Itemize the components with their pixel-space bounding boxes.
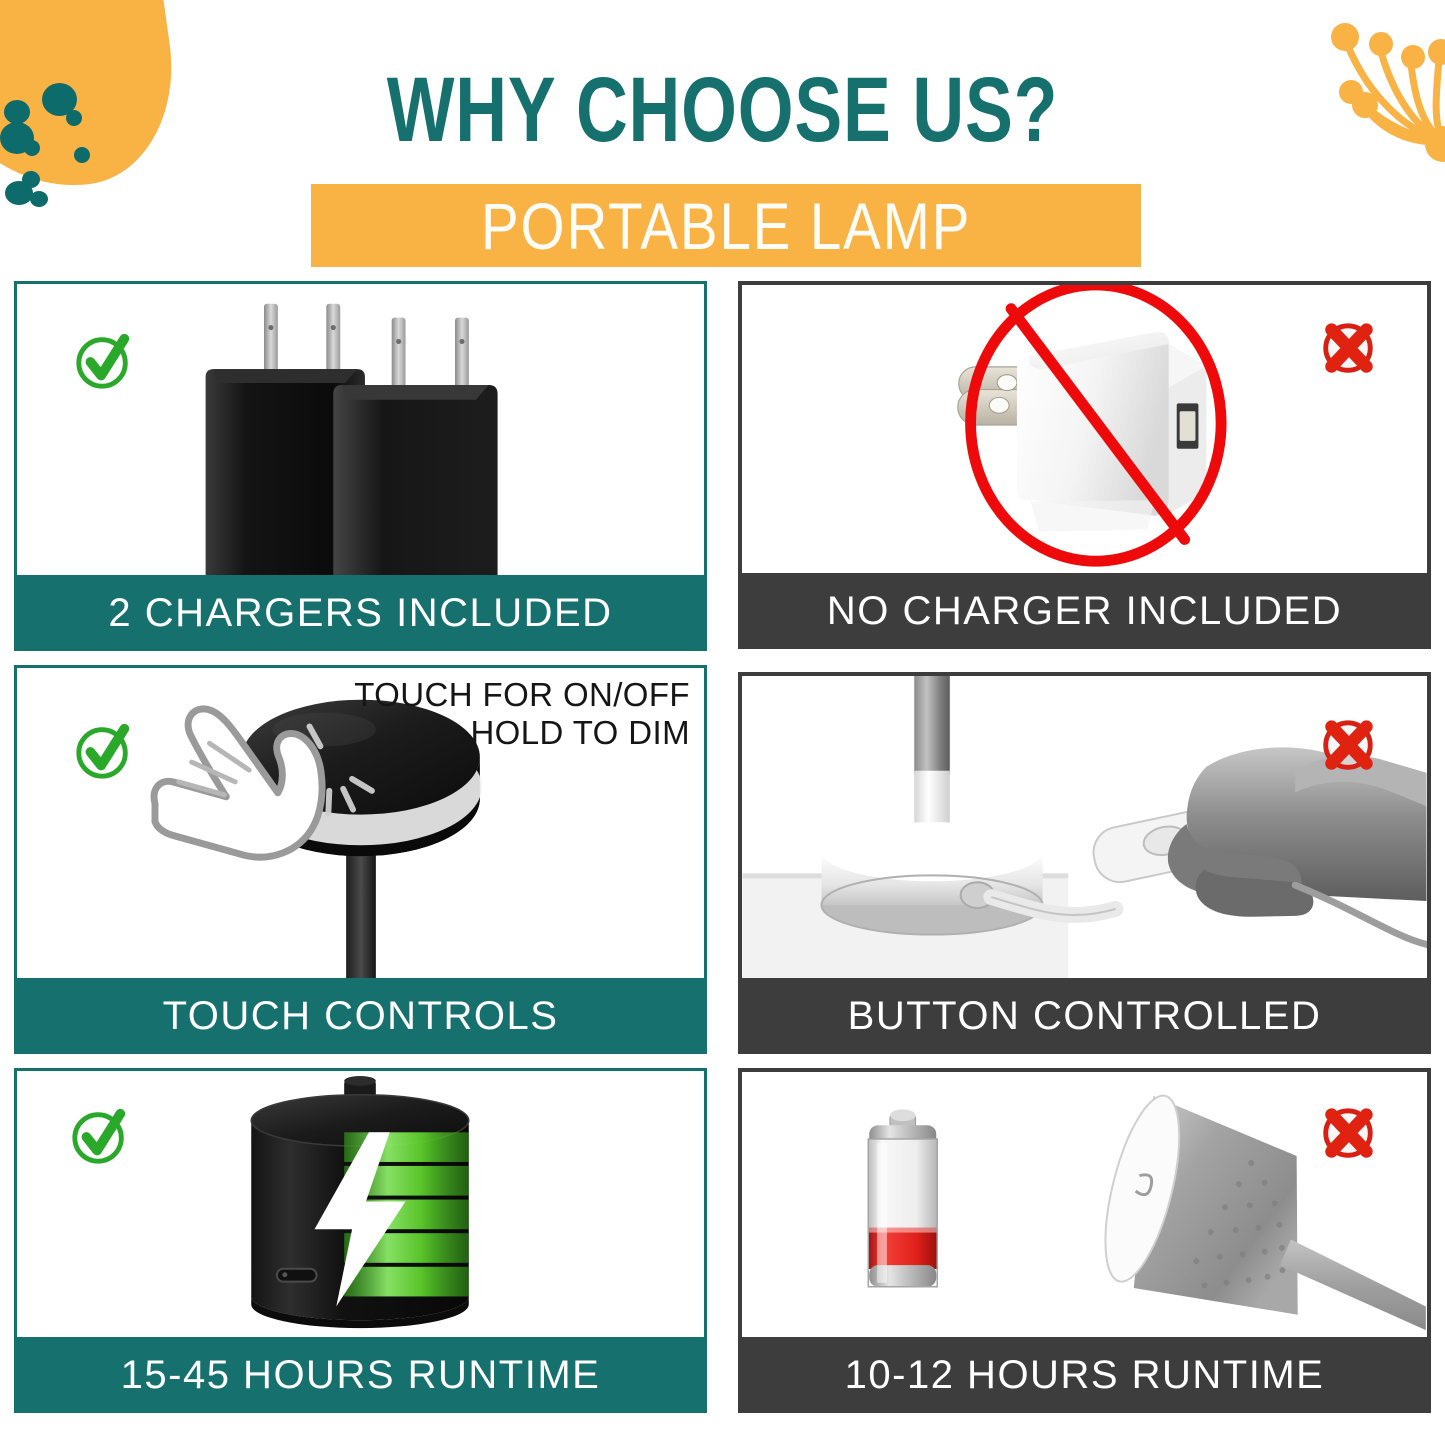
card-long-runtime: 15-45 HOURS RUNTIME: [14, 1068, 707, 1413]
teal-dot-decoration: [24, 140, 40, 156]
card-touch-controls: TOUCH FOR ON/OFF HOLD TO DIM TOUCH CONTR…: [14, 665, 707, 1054]
card-label: 15-45 HOURS RUNTIME: [14, 1337, 707, 1413]
subtitle-band: PORTABLE LAMP: [311, 184, 1141, 267]
comparison-grid: 2 CHARGERS INCLUDED: [14, 281, 1431, 1413]
card-label: 10-12 HOURS RUNTIME: [738, 1337, 1431, 1413]
teal-dot-decoration: [66, 110, 82, 126]
page-subtitle: PORTABLE LAMP: [481, 191, 971, 261]
touch-hint-line-1: TOUCH FOR ON/OFF: [354, 676, 690, 714]
green-check-icon: [73, 720, 135, 782]
card-label: TOUCH CONTROLS: [14, 978, 707, 1054]
touch-hint-text: TOUCH FOR ON/OFF HOLD TO DIM: [354, 676, 690, 752]
card-label: BUTTON CONTROLLED: [738, 978, 1431, 1054]
card-media: [14, 1068, 707, 1337]
card-short-runtime: 10-12 HOURS RUNTIME: [738, 1068, 1431, 1413]
card-label: 2 CHARGERS INCLUDED: [14, 575, 707, 651]
touch-hint-line-2: HOLD TO DIM: [354, 714, 690, 752]
card-no-charger-included: NO CHARGER INCLUDED: [738, 281, 1431, 649]
green-check-icon: [73, 330, 135, 392]
card-label: NO CHARGER INCLUDED: [738, 573, 1431, 649]
teal-dot-decoration: [4, 100, 30, 124]
red-cross-icon: [1317, 319, 1379, 381]
card-media: [738, 1068, 1431, 1337]
card-button-controlled: BUTTON CONTROLLED: [738, 672, 1431, 1054]
teal-dot-decoration: [74, 147, 90, 163]
page-title: WHY CHOOSE US?: [159, 58, 1286, 162]
card-media: TOUCH FOR ON/OFF HOLD TO DIM: [14, 665, 707, 978]
dandelion-decoration: [1291, 0, 1445, 167]
two-black-wall-chargers-artwork: [17, 284, 704, 575]
red-cross-icon: [1317, 716, 1379, 778]
card-media: [14, 281, 707, 575]
teal-dot-decoration: [30, 191, 48, 207]
green-check-icon: [69, 1105, 131, 1167]
infographic-page: WHY CHOOSE US? PORTABLE LAMP: [0, 0, 1445, 1429]
card-media: [738, 281, 1431, 573]
card-chargers-included: 2 CHARGERS INCLUDED: [14, 281, 707, 651]
teal-dot-decoration: [5, 181, 33, 205]
card-media: [738, 672, 1431, 978]
red-cross-icon: [1317, 1104, 1379, 1166]
